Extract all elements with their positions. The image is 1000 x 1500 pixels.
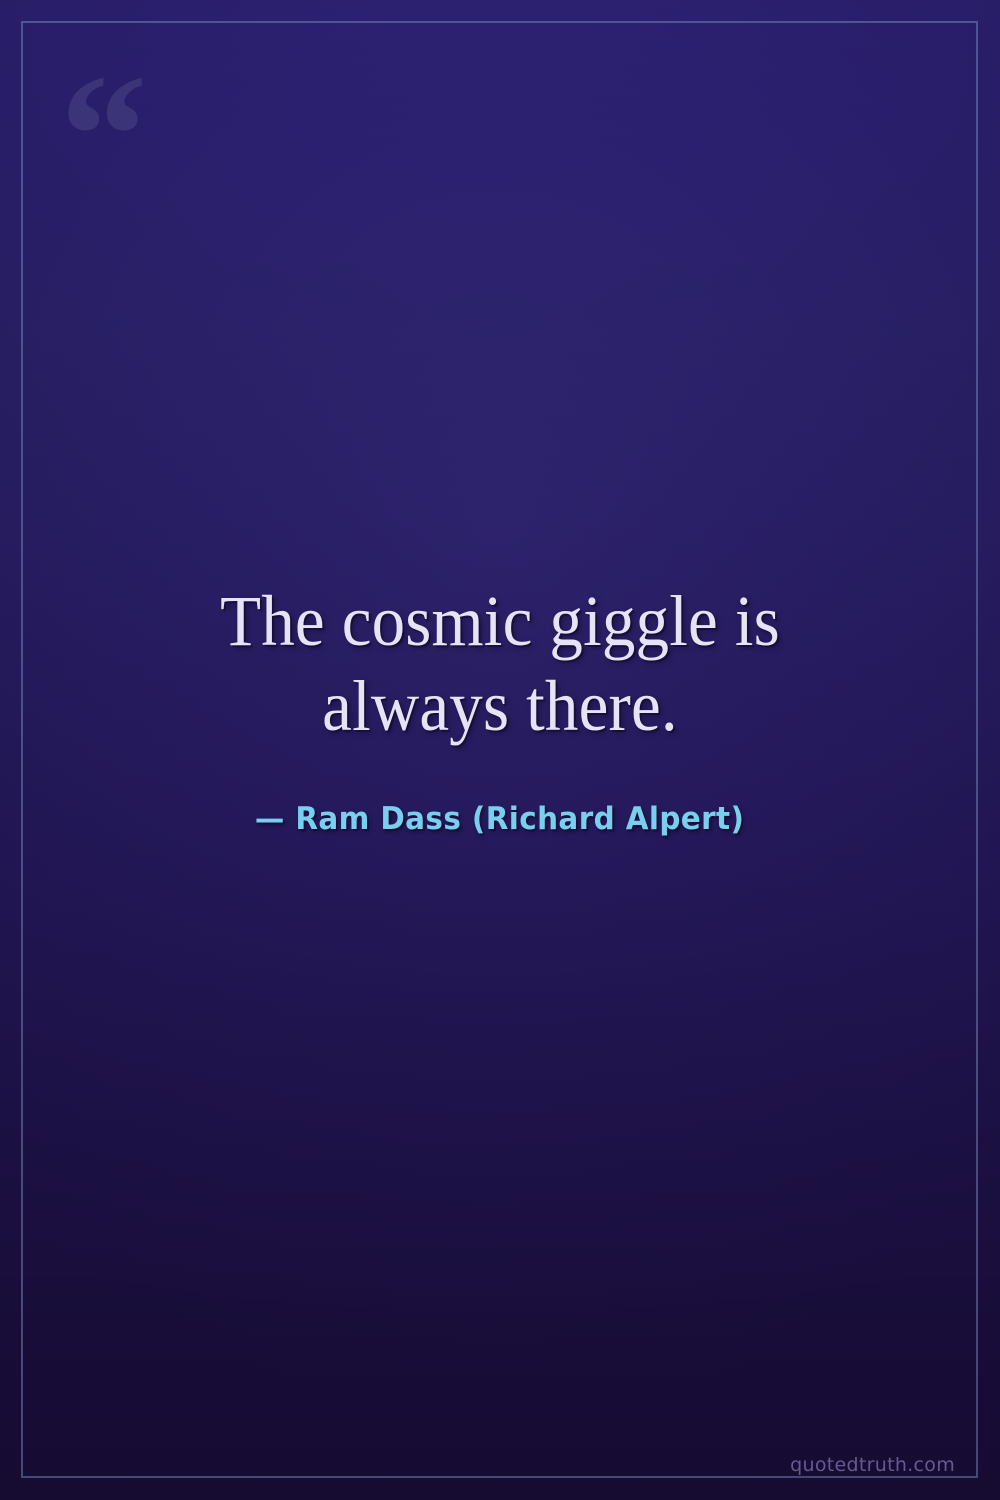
quote-content: The cosmic giggle is always there. — Ram… — [0, 0, 1000, 1500]
site-watermark: quotedtruth.com — [790, 1454, 955, 1476]
quote-attribution: — Ram Dass (Richard Alpert) — [255, 801, 744, 837]
quote-card: “ The cosmic giggle is always there. — R… — [0, 0, 1000, 1500]
quote-text: The cosmic giggle is always there. — [123, 579, 876, 749]
